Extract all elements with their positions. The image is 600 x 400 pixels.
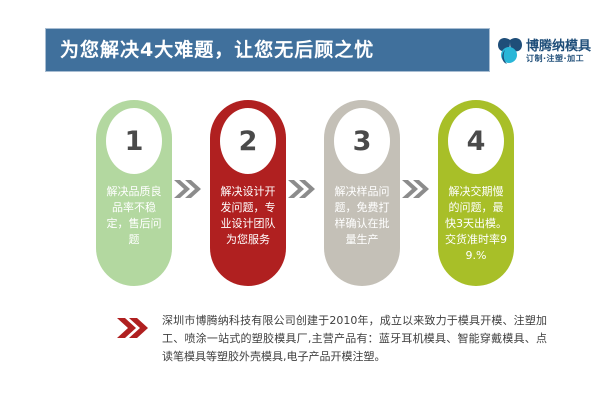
step-card-1: 1 解决品质良品率不稳定，售后问题: [96, 100, 172, 286]
step-card-4: 4 解决交期慢的问题，最快3天出模。交货准时率99.%: [438, 100, 514, 286]
step-card-3: 3 解决样品问题，免费打样确认在批量生产: [324, 100, 400, 286]
separator-chevron-icon-2: [287, 178, 317, 200]
step-description-4: 解决交期慢的问题，最快3天出模。交货准时率99.%: [444, 184, 508, 264]
step-number-badge-1: 1: [106, 108, 162, 174]
logo-butterfly-icon: [497, 36, 523, 66]
logo-text-block: 博腾纳模具 订制·注塑·加工: [526, 40, 591, 63]
company-logo: 博腾纳模具 订制·注塑·加工: [497, 30, 597, 72]
step-description-1: 解决品质良品率不稳定，售后问题: [102, 184, 166, 248]
footer-chevron-icon: [116, 316, 150, 340]
banner: 为您解决4大难题，让您无后顾之忧: [45, 28, 490, 72]
company-intro-section: 深圳市博腾纳科技有限公司创建于2010年，成立以来致力于模具开模、注塑加工、喷涂…: [0, 308, 600, 376]
step-number-badge-3: 3: [334, 108, 390, 174]
separator-chevron-icon-3: [401, 178, 431, 200]
step-number-badge-2: 2: [220, 108, 276, 174]
step-number-3: 3: [353, 128, 372, 155]
step-number-4: 4: [467, 128, 486, 155]
step-number-badge-4: 4: [448, 108, 504, 174]
step-number-1: 1: [125, 128, 144, 155]
step-description-3: 解决样品问题，免费打样确认在批量生产: [330, 184, 394, 248]
step-card-2: 2 解决设计开发问题，专业设计团队为您服务: [210, 100, 286, 286]
logo-company-name: 博腾纳模具: [526, 40, 591, 53]
step-description-2: 解决设计开发问题，专业设计团队为您服务: [216, 184, 280, 248]
page-title: 为您解决4大难题，让您无后顾之忧: [46, 41, 374, 60]
separator-chevron-icon-1: [173, 178, 203, 200]
page-header: 为您解决4大难题，让您无后顾之忧 博腾纳模具 订制·注塑·加工: [0, 28, 600, 74]
logo-tagline: 订制·注塑·加工: [526, 55, 591, 63]
step-number-2: 2: [239, 128, 258, 155]
steps-row: 1 解决品质良品率不稳定，售后问题 2 解决设计开发问题，专业设计团队为您服务 …: [0, 100, 600, 290]
company-intro-text: 深圳市博腾纳科技有限公司创建于2010年，成立以来致力于模具开模、注塑加工、喷涂…: [162, 312, 547, 366]
